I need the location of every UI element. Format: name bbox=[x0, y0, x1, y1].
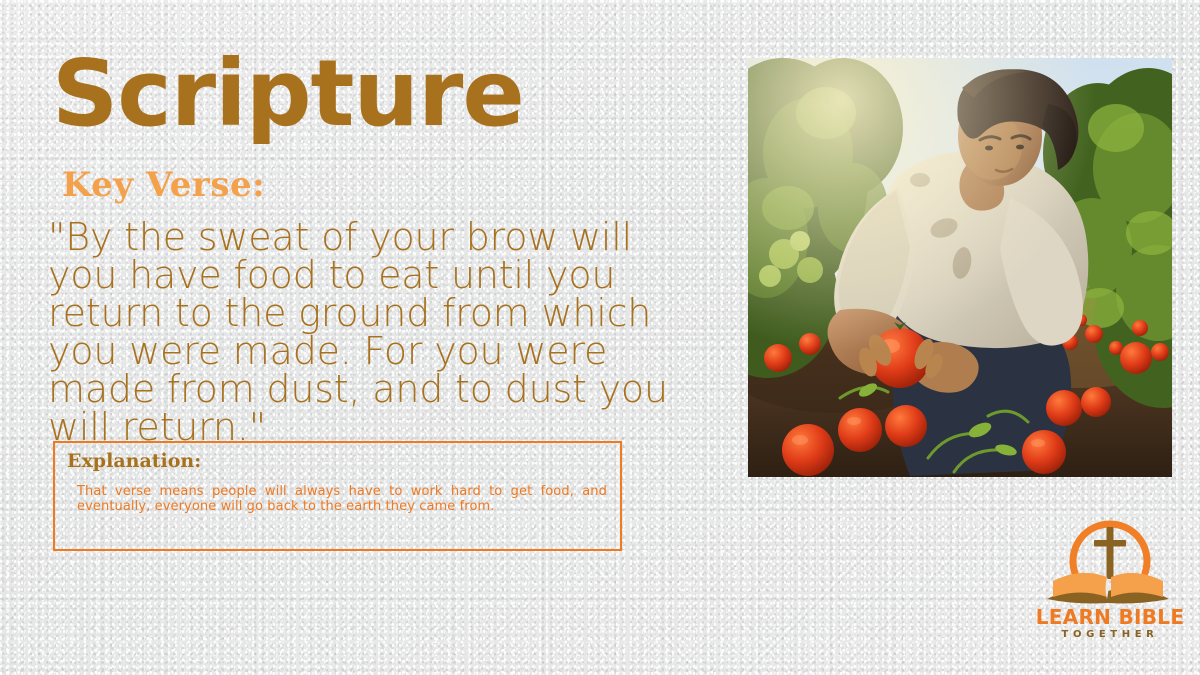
learn-bible-together-logo: LEARN BIBLE TOGETHER bbox=[1035, 515, 1185, 645]
key-verse-text: "By the sweat of your brow will you have… bbox=[48, 218, 708, 446]
logo-mark bbox=[1035, 515, 1185, 611]
cross-icon bbox=[1094, 527, 1126, 579]
logo-primary-text: LEARN BIBLE bbox=[1035, 607, 1185, 627]
photo-image bbox=[748, 58, 1172, 477]
key-verse-label: Key Verse: bbox=[62, 168, 265, 202]
page-title: Scripture bbox=[52, 48, 524, 140]
logo-secondary-text: TOGETHER bbox=[1035, 630, 1185, 640]
explanation-text: That verse means people will always have… bbox=[77, 484, 607, 514]
tomato-harvest-photo bbox=[748, 58, 1172, 477]
scripture-slide: Scripture Key Verse: "By the sweat of yo… bbox=[0, 0, 1200, 675]
explanation-box: Explanation: That verse means people wil… bbox=[53, 441, 622, 551]
explanation-label: Explanation: bbox=[67, 452, 201, 471]
